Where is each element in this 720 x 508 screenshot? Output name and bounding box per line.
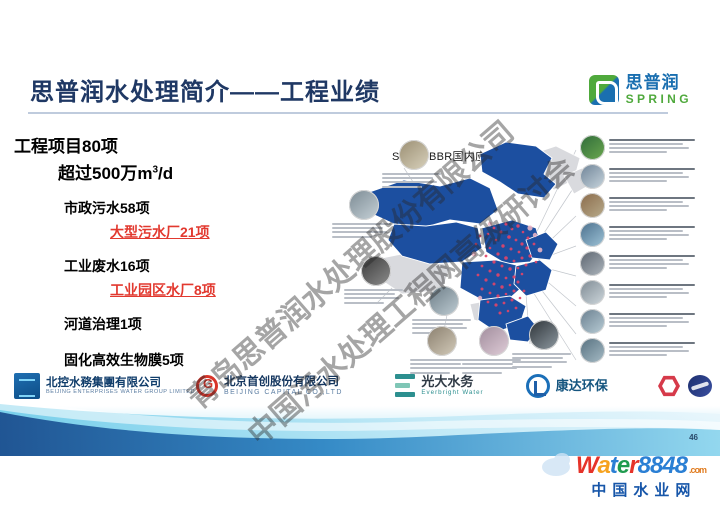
capital-g-icon — [196, 375, 218, 397]
project-photo-icon — [479, 326, 509, 356]
wave-graphic — [0, 396, 720, 456]
map-callout — [344, 256, 408, 306]
xinhua-hex-icon — [658, 375, 680, 397]
brand-text: 思普润 SPRING — [626, 74, 692, 105]
callout-caption — [609, 197, 702, 214]
map-callout — [580, 192, 702, 218]
callout-caption — [609, 342, 702, 359]
map-callout — [580, 337, 702, 363]
callout-caption — [382, 173, 446, 188]
partner-name-cn: 北京首创股份有限公司 — [224, 376, 343, 388]
partner-text: 康达环保 — [556, 379, 608, 393]
map-callout — [512, 320, 576, 370]
callout-caption — [332, 223, 396, 238]
map-callout — [580, 250, 702, 276]
stat-industrial-highlight: 工业园区水厂8项 — [110, 280, 314, 300]
project-photo-icon — [580, 309, 605, 334]
map-callout — [580, 308, 702, 334]
project-photo-icon — [349, 190, 379, 220]
site-number: 8848 — [638, 454, 687, 478]
partner-kangda: 康达环保 — [526, 374, 654, 398]
site-watermark-brand: W a t e r 8848 .com — [576, 454, 706, 478]
site-letter-a: a — [598, 454, 610, 478]
site-letter-r: r — [629, 454, 637, 478]
stat-municipal-highlight: 大型污水厂21项 — [110, 222, 314, 242]
title-divider — [28, 112, 668, 114]
project-photo-icon — [399, 140, 429, 170]
xinhua-oval-icon — [688, 375, 712, 397]
presentation-slide: 思普润水处理简介——工程业绩 思普润 SPRING 工程项目80项 超过500万… — [0, 28, 720, 456]
stats-list: 工程项目80项 超过500万m3/d 市政污水58项 大型污水厂21项 工业废水… — [14, 132, 314, 386]
site-domain: .com — [689, 466, 706, 475]
site-watermark-cn: 中国水业网 — [585, 479, 696, 500]
stat-total-projects: 工程项目80项 — [14, 132, 314, 157]
callout-caption — [344, 289, 408, 304]
kangda-icon — [526, 374, 550, 398]
project-photo-icon — [580, 222, 605, 247]
callout-caption — [609, 284, 702, 301]
project-photo-icon — [580, 338, 605, 363]
map-callout — [332, 190, 396, 240]
map-callout — [580, 221, 702, 247]
site-watermark: W a t e r 8848 .com 中国水业网 — [576, 454, 706, 500]
partner-text: 光大水务 Everbright Water — [421, 375, 483, 396]
map-callout — [580, 279, 702, 305]
callout-caption — [609, 313, 702, 330]
map-callout — [580, 134, 702, 160]
map-callout-column-right — [580, 134, 702, 366]
screenshot-root: 思普润水处理简介——工程业绩 思普润 SPRING 工程项目80项 超过500万… — [0, 0, 720, 508]
callout-caption — [609, 168, 702, 185]
partner-beijing-capital: 北京首创股份有限公司 BEIJING CAPITAL CO.,LTD — [196, 375, 389, 397]
partner-everbright-water: 光大水务 Everbright Water — [395, 374, 521, 398]
partner-xinhua-marks — [658, 375, 720, 397]
partner-name-cn: 康达环保 — [556, 379, 608, 393]
project-photo-icon — [361, 256, 391, 286]
partner-text: 北控水務集團有限公司 Beijing Enterprises Water Gro… — [46, 377, 195, 396]
project-photo-icon — [580, 251, 605, 276]
callout-caption — [609, 139, 702, 156]
partner-name-en: Beijing Enterprises Water Group Limited — [46, 390, 195, 396]
stat-municipal: 市政污水58项 — [64, 198, 314, 218]
partner-name-cn: 北控水務集團有限公司 — [46, 377, 195, 389]
footer-wave-decoration — [0, 396, 720, 456]
everbright-e-icon — [395, 374, 415, 398]
map-callout — [580, 163, 702, 189]
stat-river: 河道治理1项 — [64, 314, 314, 334]
callout-caption — [609, 255, 702, 272]
stat-industrial: 工业废水16项 — [64, 256, 314, 276]
project-photo-icon — [529, 320, 559, 350]
brand-logo: 思普润 SPRING — [589, 74, 692, 105]
callout-caption — [609, 226, 702, 243]
brand-name-cn: 思普润 — [626, 74, 692, 91]
project-photo-icon — [580, 164, 605, 189]
partner-name-cn: 光大水务 — [421, 375, 483, 389]
project-photo-icon — [429, 286, 459, 316]
project-photo-icon — [580, 135, 605, 160]
stat-capacity-unit: /d — [158, 164, 173, 183]
map-callout — [382, 140, 446, 190]
site-letter-w: W — [576, 454, 598, 478]
site-letter-t: t — [610, 454, 617, 478]
project-photo-icon — [427, 326, 457, 356]
project-photo-icon — [580, 280, 605, 305]
page-title: 思普润水处理简介——工程业绩 — [30, 72, 380, 107]
china-application-map: SPR-MBBR国内应用版图 — [330, 128, 702, 378]
project-photo-icon — [580, 193, 605, 218]
slide-page-number: 46 — [689, 433, 698, 442]
brand-name-en: SPRING — [626, 93, 692, 105]
cloud-icon — [542, 458, 570, 476]
stat-total-capacity: 超过500万m3/d — [58, 159, 314, 184]
stat-capacity-value: 超过500万m — [58, 164, 152, 183]
partner-text: 北京首创股份有限公司 BEIJING CAPITAL CO.,LTD — [224, 376, 343, 396]
spring-logo-icon — [589, 75, 619, 105]
site-letter-e: e — [617, 454, 629, 478]
